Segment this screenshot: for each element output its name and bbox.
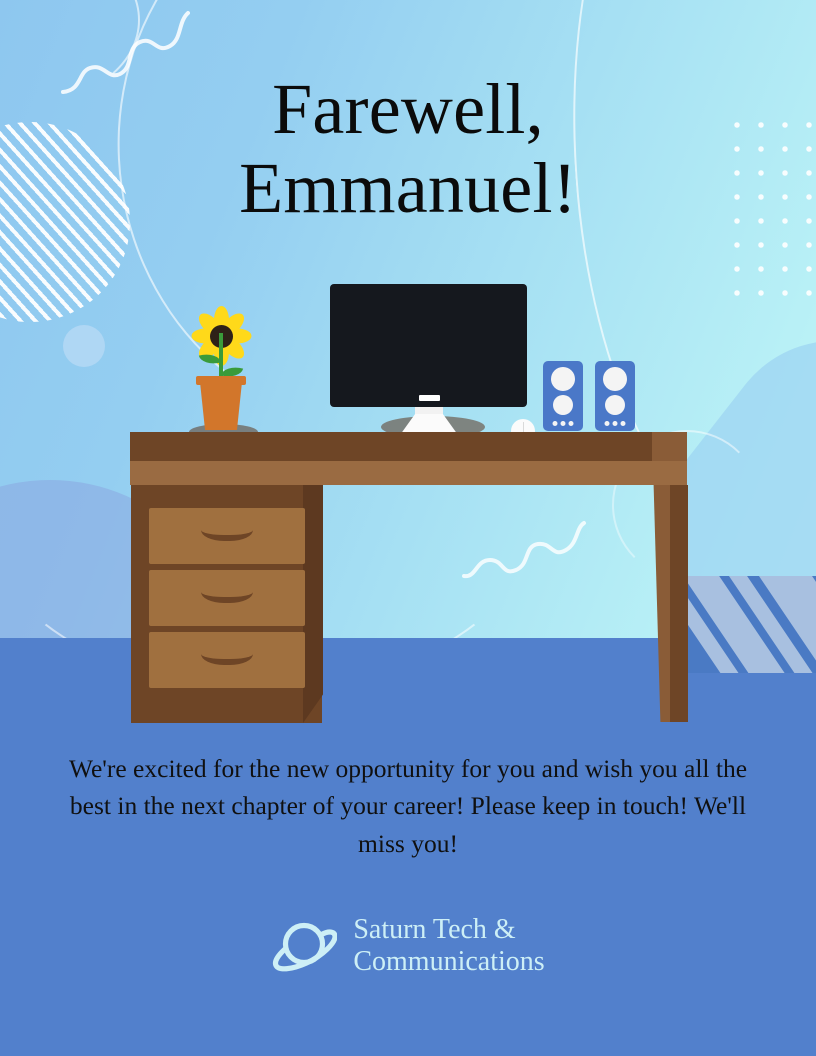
desk-cabinet-side [303, 485, 323, 723]
speaker-dots [605, 421, 626, 426]
drawer-bottom [149, 632, 305, 688]
speaker-left [543, 361, 583, 431]
farewell-message: We're excited for the new opportunity fo… [58, 750, 758, 862]
page-title: Farewell, Emmanuel! [0, 70, 816, 228]
brand-name: Saturn Tech & Communications [353, 914, 544, 979]
mouse-scroll-line [523, 422, 525, 432]
farewell-poster: Farewell, Emmanuel! We're excited for th… [0, 0, 816, 1056]
speaker-cone-bottom [553, 395, 573, 415]
saturn-planet-icon [271, 913, 337, 979]
speaker-dots [553, 421, 574, 426]
title-line-2: Emmanuel! [0, 149, 816, 228]
monitor-indicator-light [419, 395, 440, 401]
flower-pot-rim [196, 376, 246, 385]
desk-leg-right-highlight [650, 485, 670, 722]
desk-top-edge [130, 461, 687, 485]
monitor-screen [668, 576, 816, 673]
drawer-handle-icon [201, 592, 253, 603]
flower-pot [200, 382, 242, 430]
speaker-right [595, 361, 635, 431]
drawer-middle [149, 570, 305, 626]
brand-lockup: Saturn Tech & Communications [0, 913, 816, 979]
drawer-top [149, 508, 305, 564]
desk-top-surface [130, 432, 687, 461]
computer-monitor [330, 284, 527, 407]
speaker-cone-top [551, 367, 575, 391]
drawer-handle-icon [201, 530, 253, 541]
speaker-cone-top [603, 367, 627, 391]
title-line-1: Farewell, [0, 70, 816, 149]
speaker-cone-bottom [605, 395, 625, 415]
drawer-handle-icon [201, 654, 253, 665]
